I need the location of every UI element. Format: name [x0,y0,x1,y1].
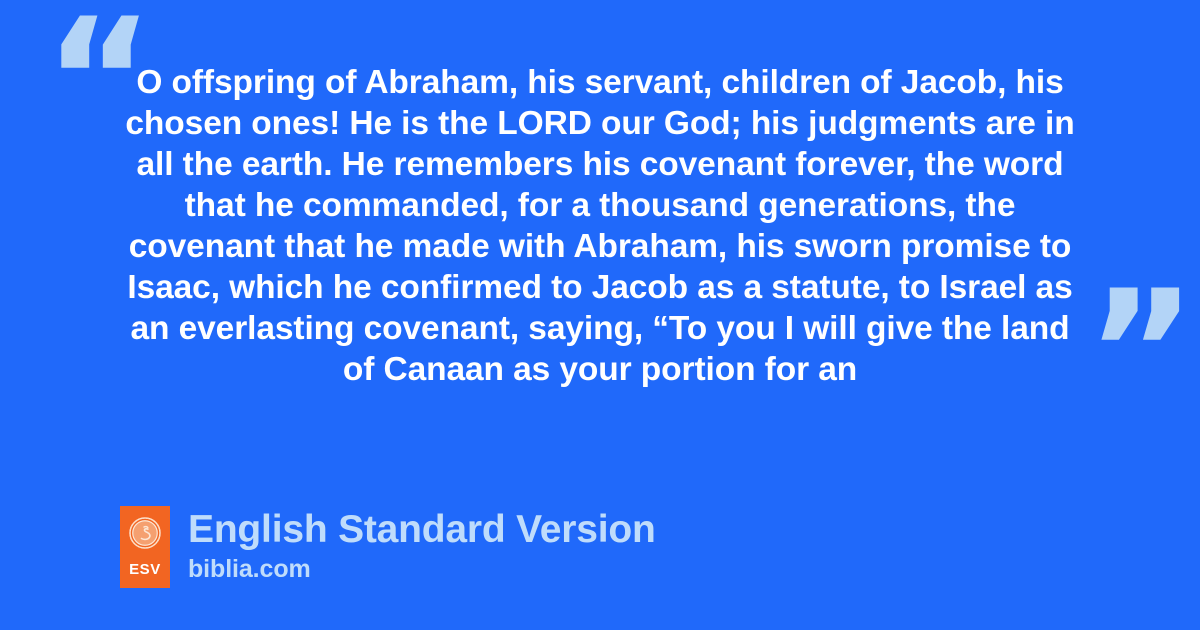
quote-line: O offspring of Abraham, his servant, chi… [120,62,1080,103]
quote-line: of Canaan as your portion for an [120,349,1080,390]
footer-text-group: English Standard Version biblia.com [188,506,656,584]
site-url-label[interactable]: biblia.com [188,554,656,584]
esv-abbreviation-label: ESV [129,562,161,577]
attribution-footer: ESV English Standard Version biblia.com [120,506,656,588]
quote-line: chosen ones! He is the LORD our God; his… [120,103,1080,144]
quote-line: all the earth. He remembers his covenant… [120,144,1080,185]
bible-verse-quote-card: “ ” O offspring of Abraham, his servant,… [0,0,1200,630]
esv-seal-icon [129,517,161,549]
quote-line: Isaac, which he confirmed to Jacob as a … [120,267,1080,308]
bible-version-name: English Standard Version [188,507,656,553]
esv-logo: ESV [120,506,170,588]
quote-line: an everlasting covenant, saying, “To you… [120,308,1080,349]
quote-line: covenant that he made with Abraham, his … [120,226,1080,267]
quote-line: that he commanded, for a thousand genera… [120,185,1080,226]
quote-text-block: O offspring of Abraham, his servant, chi… [120,62,1080,390]
closing-quote-icon: ” [1086,268,1196,436]
